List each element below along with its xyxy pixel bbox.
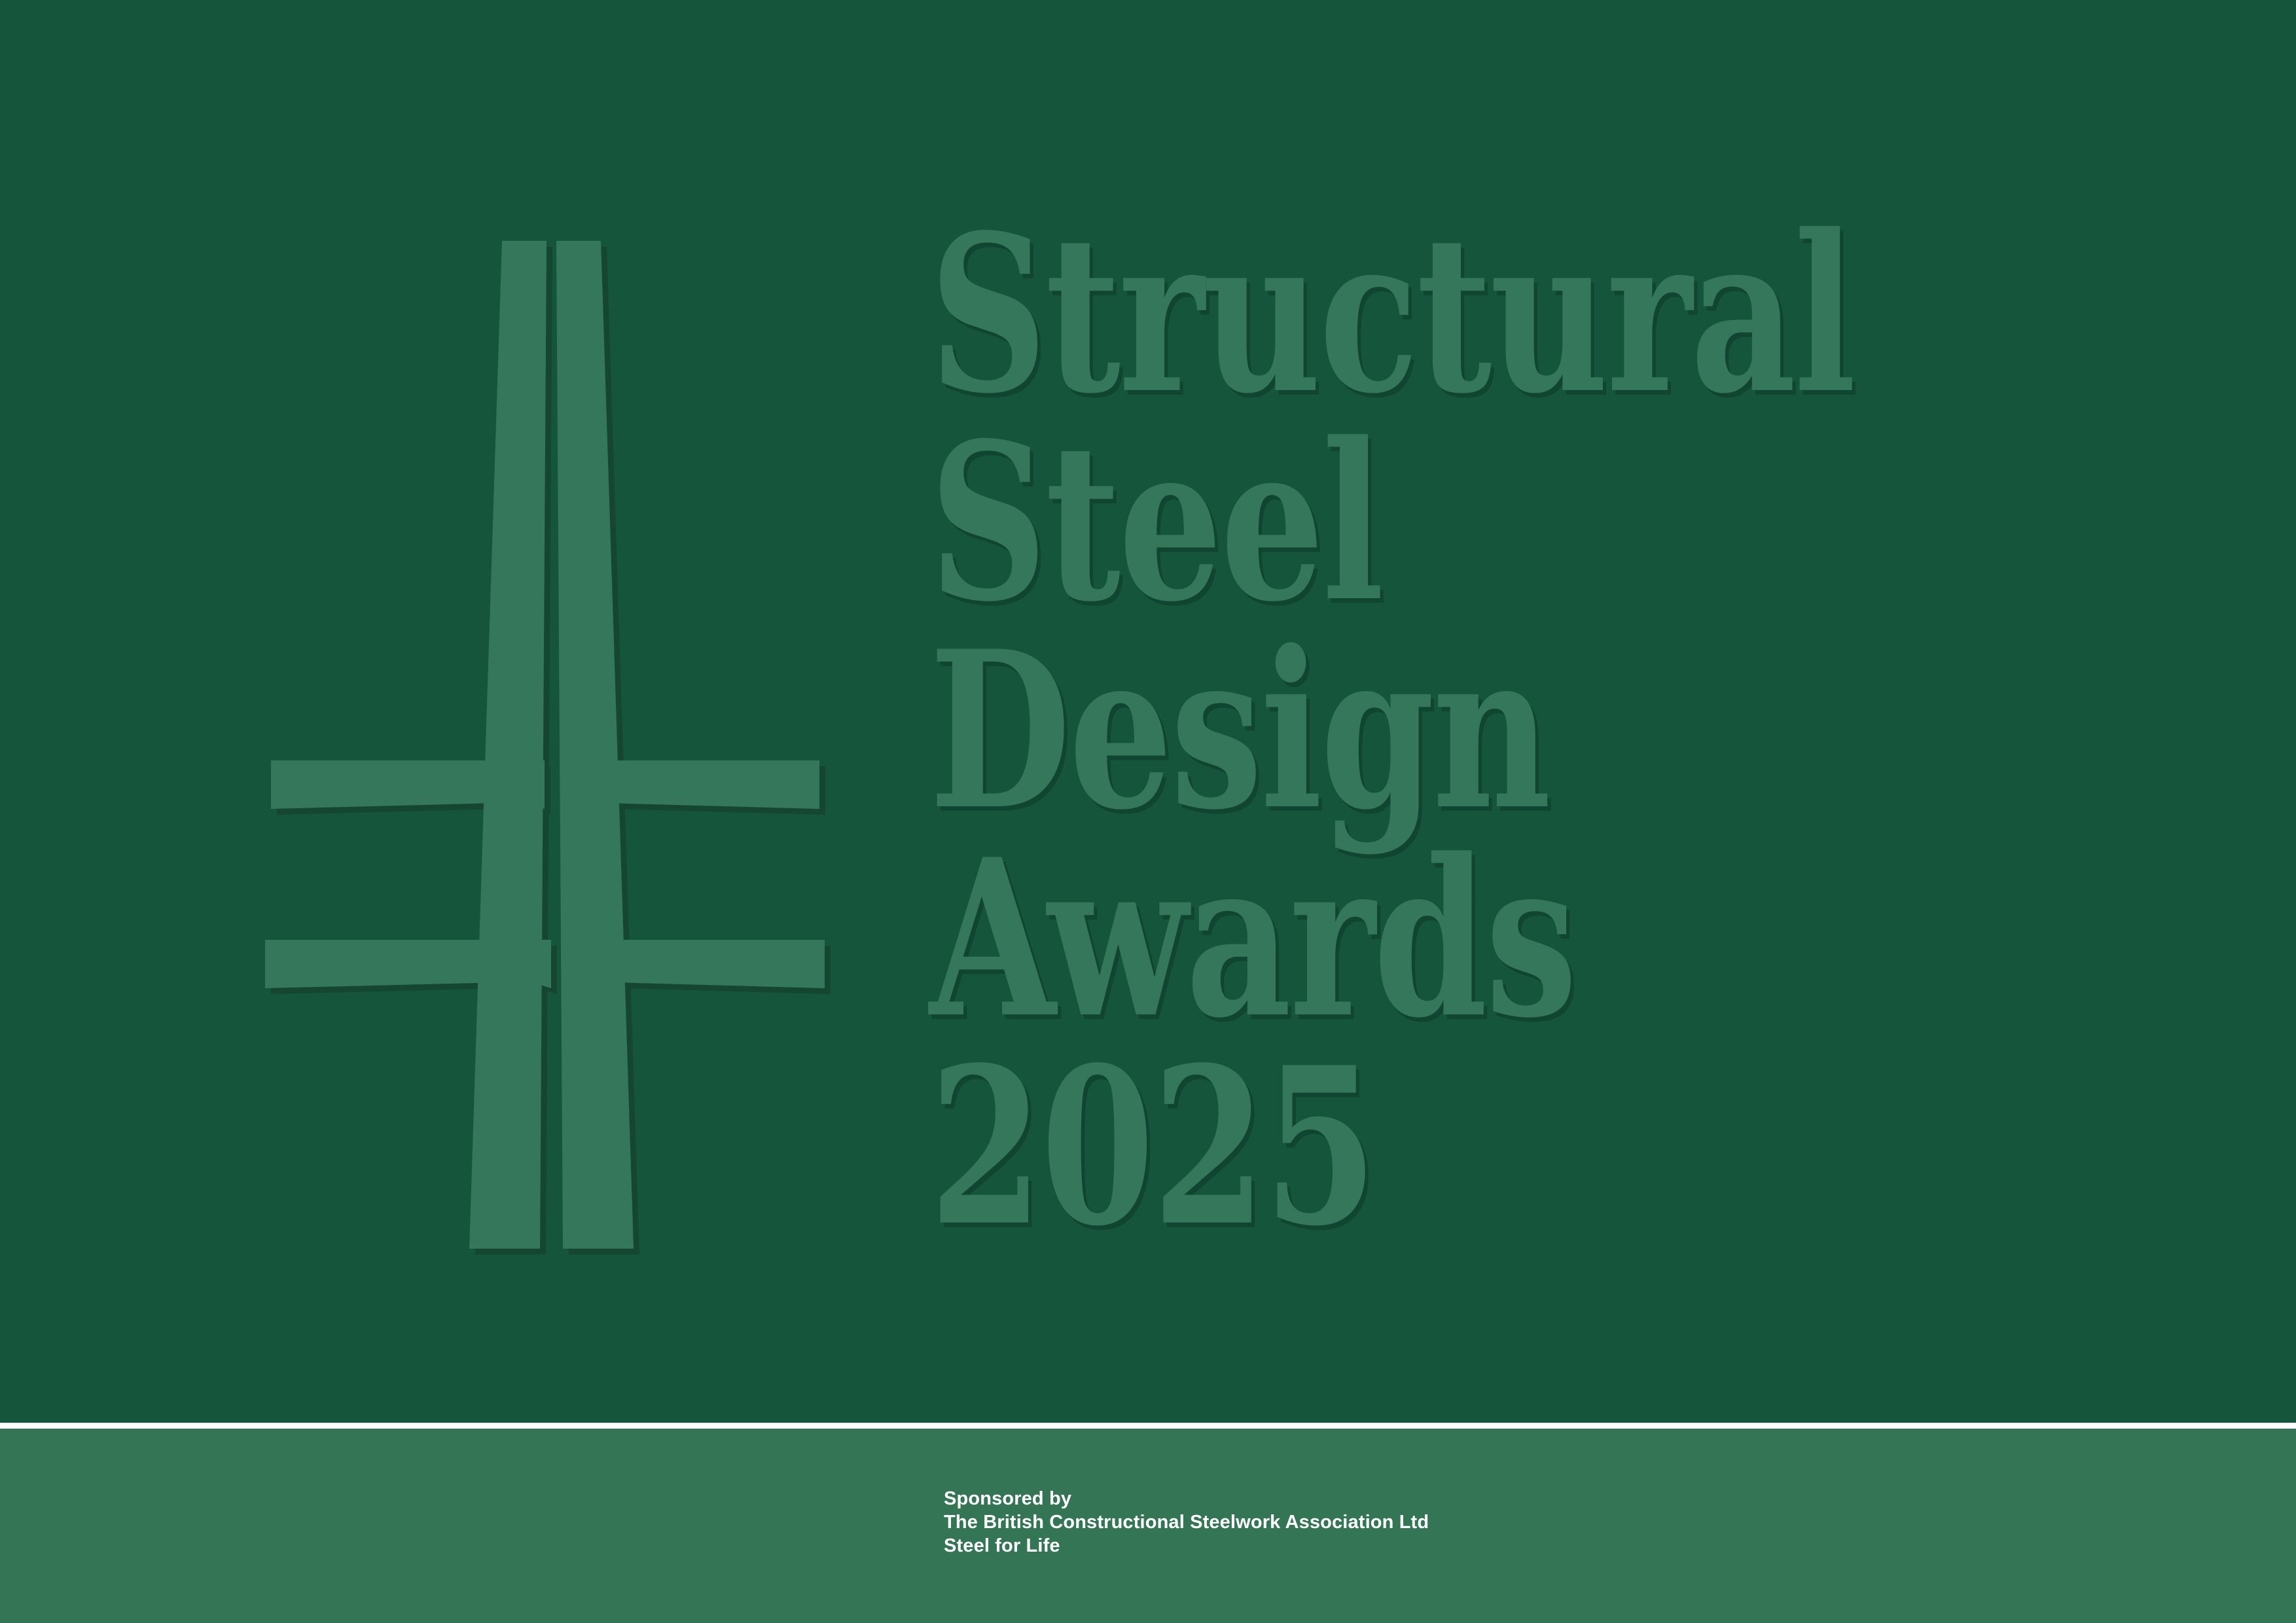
sponsor-credits-block: Sponsored by The British Constructional … (944, 1487, 1991, 1558)
title-line-steel: Steel (929, 418, 1869, 626)
title-line-year: 2025 (929, 1042, 1869, 1250)
poster-page: Structural Steel Design Awards 2025 Spon… (0, 0, 2296, 1623)
sponsored-by-label: Sponsored by (944, 1487, 1991, 1510)
sponsor-name-bcsa: The British Constructional Steelwork Ass… (944, 1510, 1991, 1534)
title-line-structural: Structural (929, 209, 1869, 418)
title-line-design: Design (929, 626, 1869, 834)
title-line-awards: Awards (929, 834, 1869, 1042)
horizontal-divider-rule (0, 1423, 2296, 1429)
steel-i-beam-logo-icon (249, 223, 838, 1270)
poster-title-block: Structural Steel Design Awards 2025 (929, 209, 2173, 1250)
sponsor-name-steel-for-life: Steel for Life (944, 1534, 1991, 1558)
